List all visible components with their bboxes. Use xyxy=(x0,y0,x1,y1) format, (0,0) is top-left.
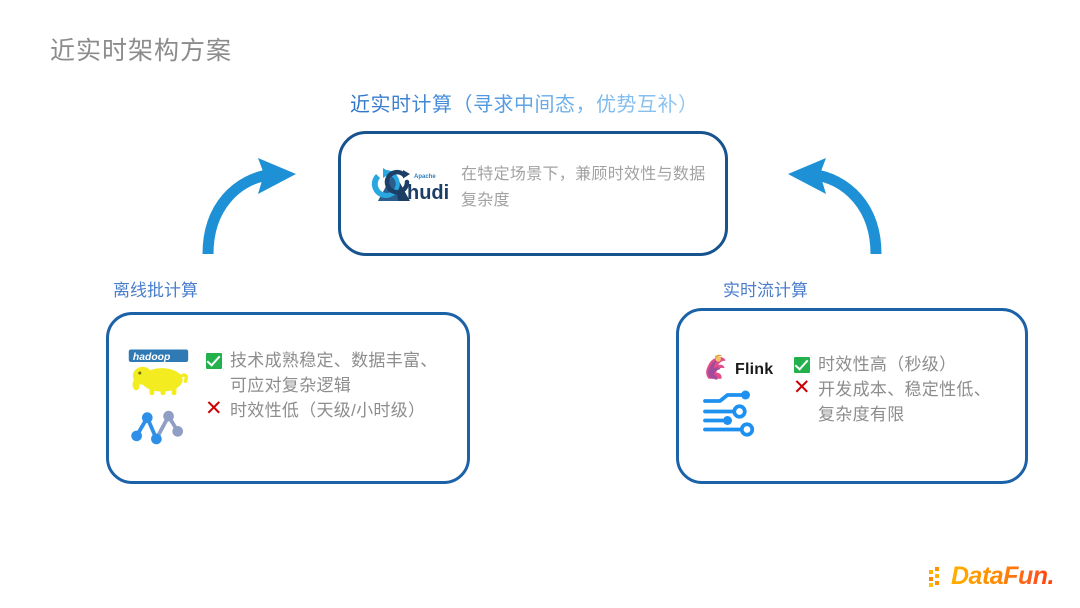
list-item: 技术成熟稳定、数据丰富、 可应对复杂逻辑 xyxy=(204,348,438,398)
list-item-label: 时效性高（秒级） xyxy=(818,352,956,377)
cross-icon: ✕ xyxy=(792,378,812,398)
spark-graph-icon xyxy=(129,405,199,452)
apache-hudi-logo: hudi Apache xyxy=(355,164,451,206)
streaming-bullet-list: 时效性高（秒级） ✕ 开发成本、稳定性低、 复杂度有限 xyxy=(792,352,991,427)
batch-bullet-list: 技术成熟稳定、数据丰富、 可应对复杂逻辑 ✕ 时效性低（天级/小时级） xyxy=(204,348,438,423)
datafun-wordmark: DataFun. xyxy=(951,562,1054,591)
streaming-compute-card-content: Flink 时效 xyxy=(700,352,991,442)
list-item-label: 技术成熟稳定、数据丰富、 可应对复杂逻辑 xyxy=(230,348,438,398)
near-realtime-description: 在特定场景下，兼顾时效性与数据复杂度 xyxy=(461,160,715,214)
section-label-batch: 离线批计算 xyxy=(113,276,198,301)
near-realtime-card-content: hudi Apache 在特定场景下，兼顾时效性与数据复杂度 xyxy=(355,160,715,214)
hadoop-logo: hadoop xyxy=(126,348,202,403)
svg-text:Apache: Apache xyxy=(414,174,436,180)
stream-circuit-icon xyxy=(700,389,764,442)
arrow-left-to-center xyxy=(196,158,306,263)
svg-text:hadoop: hadoop xyxy=(133,352,170,363)
slide-canvas: 近实时架构方案 近实时计算（寻求中间态，优势互补） hudi Apache 在特… xyxy=(0,0,1080,608)
list-item: ✕ 开发成本、稳定性低、 复杂度有限 xyxy=(792,377,991,427)
arrow-right-to-center xyxy=(778,158,888,263)
flink-wordmark: Flink xyxy=(735,361,773,379)
list-item: ✕ 时效性低（天级/小时级） xyxy=(204,398,438,423)
check-icon xyxy=(204,351,224,371)
flink-logo-row: Flink xyxy=(700,352,773,387)
list-item: 时效性高（秒级） xyxy=(792,352,991,377)
check-icon xyxy=(792,355,812,375)
center-heading: 近实时计算（寻求中间态，优势互补） xyxy=(350,88,699,117)
flink-logo xyxy=(700,352,730,387)
list-item-label: 开发成本、稳定性低、 复杂度有限 xyxy=(818,377,991,427)
batch-logo-column: hadoop xyxy=(124,348,204,452)
cross-icon: ✕ xyxy=(204,399,224,419)
streaming-logo-column: Flink xyxy=(700,352,792,442)
svg-text:hudi: hudi xyxy=(407,182,449,204)
batch-compute-card-content: hadoop xyxy=(124,348,438,452)
section-label-streaming: 实时流计算 xyxy=(723,276,808,301)
page-title: 近实时架构方案 xyxy=(50,31,232,67)
datafun-logo: DataFun. xyxy=(928,562,1054,591)
datafun-dots-icon xyxy=(928,566,948,588)
list-item-label: 时效性低（天级/小时级） xyxy=(230,398,425,423)
